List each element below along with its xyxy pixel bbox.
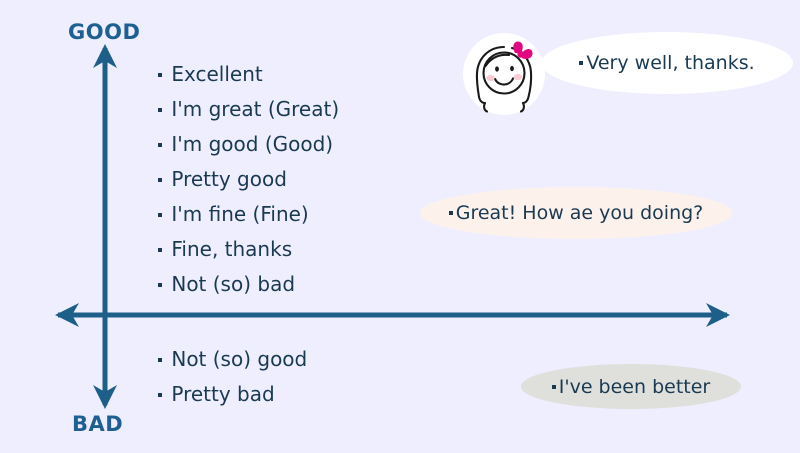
axis-label-good: GOOD — [68, 20, 140, 44]
list-item: Not (so) good — [158, 342, 307, 377]
cheek-left-icon — [486, 75, 494, 81]
bullet-icon — [158, 393, 162, 397]
cheek-right-icon — [514, 74, 522, 80]
bad-response-list: Not (so) good Pretty bad — [158, 342, 307, 412]
response-text: I'm good (Good) — [171, 132, 333, 156]
list-item: Fine, thanks — [158, 232, 339, 267]
speech-bubble-text: Great! How ae you doing? — [456, 202, 704, 224]
bullet-icon — [449, 211, 453, 215]
list-item: Pretty bad — [158, 377, 307, 412]
axis-label-bad: BAD — [72, 412, 123, 436]
list-item: I'm great (Great) — [158, 92, 339, 127]
response-text: Not (so) good — [171, 347, 307, 371]
bullet-icon — [552, 385, 556, 389]
bullet-icon — [158, 213, 162, 217]
bullet-icon — [158, 358, 162, 362]
eye-left-icon — [495, 66, 499, 71]
response-text: Pretty good — [171, 167, 287, 191]
list-item: Not (so) bad — [158, 267, 339, 302]
bullet-icon — [158, 178, 162, 182]
speech-bubble-text: Very well, thanks. — [586, 52, 754, 74]
bullet-icon — [158, 283, 162, 287]
list-item: I'm fine (Fine) — [158, 197, 339, 232]
response-text: Pretty bad — [171, 382, 274, 406]
bullet-icon — [158, 248, 162, 252]
avatar — [463, 33, 545, 115]
good-response-list: Excellent I'm great (Great) I'm good (Go… — [158, 57, 339, 302]
response-text: Not (so) bad — [171, 272, 295, 296]
bullet-icon — [158, 143, 162, 147]
bullet-icon — [158, 73, 162, 77]
list-item: Excellent — [158, 57, 339, 92]
response-text: I'm great (Great) — [171, 97, 339, 121]
bullet-icon — [158, 108, 162, 112]
response-text: Fine, thanks — [171, 237, 292, 261]
response-text: Excellent — [171, 62, 262, 86]
speech-bubble-great-how: Great! How ae you doing? — [420, 187, 732, 239]
eye-right-icon — [510, 66, 514, 71]
bullet-icon — [579, 61, 583, 65]
list-item: Pretty good — [158, 162, 339, 197]
response-text: I'm fine (Fine) — [171, 202, 308, 226]
girl-face-icon — [463, 33, 545, 115]
speech-bubble-text: I've been better — [559, 376, 710, 398]
speech-bubble-very-well: Very well, thanks. — [541, 32, 793, 94]
infographic-canvas: GOOD BAD Excellent I'm great (Great) I'm… — [0, 0, 800, 453]
speech-bubble-been-better: I've been better — [521, 364, 741, 409]
list-item: I'm good (Good) — [158, 127, 339, 162]
